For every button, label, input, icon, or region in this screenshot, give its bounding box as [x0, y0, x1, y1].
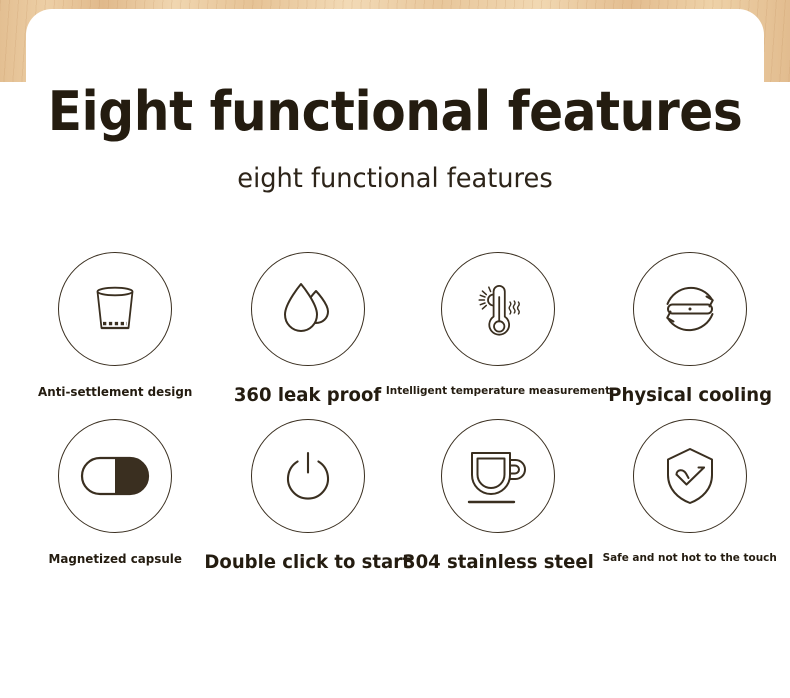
- coffee-cup-icon: [465, 445, 531, 507]
- icon-circle: [251, 419, 365, 533]
- feature-label: Double click to start: [205, 551, 411, 573]
- feature-anti-settlement-design[interactable]: Anti-settlement design: [20, 252, 210, 406]
- icon-circle: [441, 419, 555, 533]
- page-subtitle: eight functional features: [20, 141, 771, 194]
- feature-row: Anti-settlement design 360 leak proof: [0, 252, 790, 406]
- features-grid: Anti-settlement design 360 leak proof: [0, 252, 790, 573]
- feature-intelligent-temperature-measurement[interactable]: Intelligent temperature measurement: [403, 252, 593, 406]
- thermometer-icon: [467, 278, 529, 340]
- feature-label: Anti-settlement design: [38, 384, 192, 399]
- rotating-stirrer-icon: [654, 273, 726, 345]
- shield-check-icon: [661, 445, 719, 507]
- page-title: Eight functional features: [28, 84, 763, 141]
- feature-label: Safe and not hot to the touch: [603, 551, 777, 564]
- feature-label: Magnetized capsule: [48, 551, 181, 566]
- power-button-icon: [279, 447, 337, 505]
- feature-304-stainless-steel[interactable]: 304 stainless steel: [403, 419, 593, 573]
- feature-safe-not-hot-to-the-touch[interactable]: Safe and not hot to the touch: [595, 419, 785, 573]
- icon-circle: [441, 252, 555, 366]
- icon-circle: [633, 252, 747, 366]
- magnet-capsule-icon: [80, 456, 150, 496]
- feature-360-leak-proof[interactable]: 360 leak proof: [213, 252, 403, 406]
- glass-sediment-icon: [84, 278, 146, 340]
- feature-magnetized-capsule[interactable]: Magnetized capsule: [20, 419, 210, 573]
- feature-double-click-to-start[interactable]: Double click to start: [213, 419, 403, 573]
- icon-circle: [251, 252, 365, 366]
- feature-label: Physical cooling: [608, 384, 772, 406]
- water-drops-icon: [276, 277, 340, 341]
- icon-circle: [58, 252, 172, 366]
- icon-circle: [58, 419, 172, 533]
- feature-label: 304 stainless steel: [403, 551, 594, 573]
- feature-row: Magnetized capsule Double click to start: [0, 419, 790, 573]
- feature-label: Intelligent temperature measurement: [386, 384, 610, 397]
- feature-physical-cooling[interactable]: Physical cooling: [595, 252, 785, 406]
- icon-circle: [633, 419, 747, 533]
- feature-label: 360 leak proof: [234, 384, 381, 406]
- header: Eight functional features eight function…: [0, 84, 790, 194]
